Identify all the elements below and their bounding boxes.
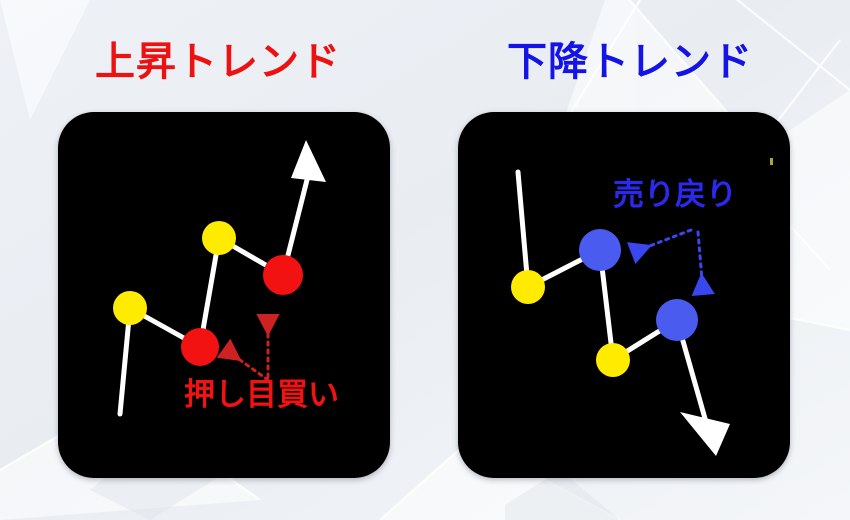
chart-panel-uptrend	[58, 112, 390, 478]
annotation-urimodori: 売り戻り	[613, 178, 737, 212]
downtrend-chart	[458, 112, 790, 478]
uptrend-annotation-arrows	[226, 317, 268, 380]
downtrend-arrow-icon	[680, 412, 730, 456]
panel-title-downtrend: 下降トレンド	[440, 38, 820, 86]
marker-swing-low-2	[596, 343, 630, 377]
annotation-oshimegai: 押し目買い	[184, 378, 339, 412]
chart-panel-downtrend	[458, 112, 790, 478]
marker-swing-low-1	[113, 291, 147, 325]
marker-pullback-1	[181, 328, 219, 366]
marker-rally-1	[579, 229, 621, 271]
uptrend-arrow-icon	[291, 140, 326, 182]
capture-artifact-speck	[770, 158, 773, 165]
marker-swing-high-1	[202, 221, 236, 255]
marker-rally-2	[656, 299, 698, 341]
marker-swing-low-1	[511, 270, 545, 304]
panel-title-uptrend: 上昇トレンド	[28, 38, 408, 86]
marker-pullback-2	[263, 255, 303, 295]
downtrend-annotation-arrows	[634, 230, 703, 292]
uptrend-chart	[58, 112, 390, 478]
diagram-canvas: 上昇トレンド 下降トレンド	[0, 0, 850, 520]
